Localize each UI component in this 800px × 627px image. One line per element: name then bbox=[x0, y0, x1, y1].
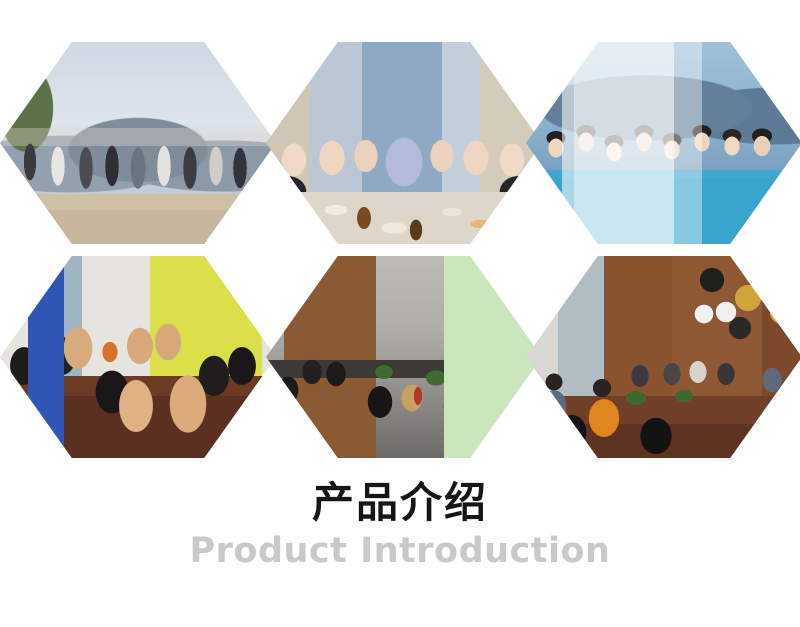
photo-tile-mountain-group[interactable] bbox=[0, 42, 276, 244]
section-title-block: 产品介绍 Product Introduction bbox=[0, 478, 800, 572]
photo-banquet-image bbox=[266, 42, 542, 244]
photo-tile-celebration[interactable] bbox=[526, 256, 800, 458]
photo-tile-banner-team[interactable] bbox=[526, 42, 800, 244]
photo-tile-training-room[interactable] bbox=[266, 256, 542, 458]
photo-celebration-image bbox=[526, 256, 800, 458]
photo-mountain-group-image bbox=[0, 42, 276, 244]
photo-meeting-room-image bbox=[0, 256, 276, 458]
section-title-english: Product Introduction bbox=[0, 530, 800, 572]
company-culture-photo-grid bbox=[0, 0, 800, 470]
photo-banner-team-image bbox=[526, 42, 800, 244]
section-title-chinese: 产品介绍 bbox=[0, 478, 800, 528]
photo-training-room-image bbox=[266, 256, 542, 458]
photo-tile-meeting-room[interactable] bbox=[0, 256, 276, 458]
photo-tile-banquet[interactable] bbox=[266, 42, 542, 244]
